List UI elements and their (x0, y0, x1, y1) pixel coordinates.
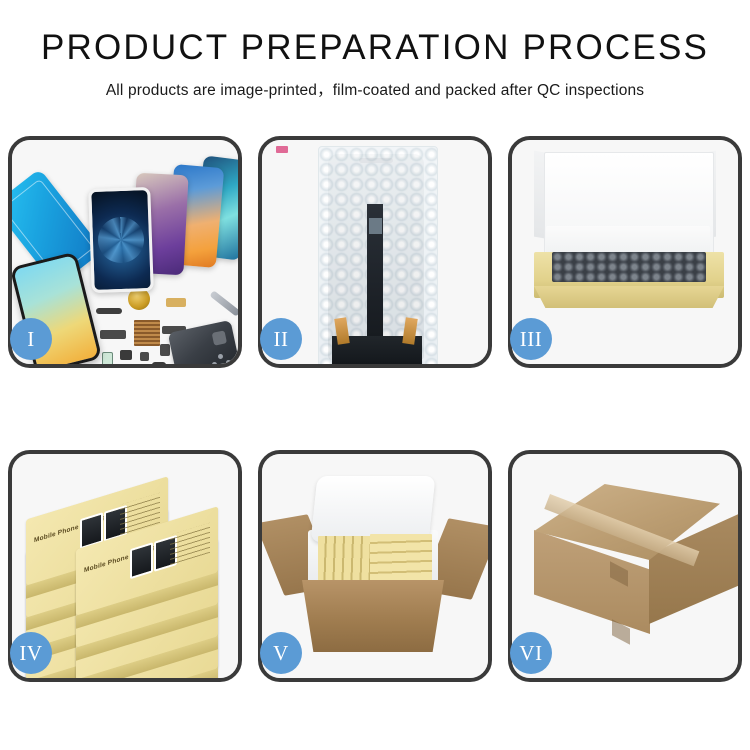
step-panel-iv: Mobile Phone Spare Parts Mobile Phone Sp… (8, 450, 242, 682)
button-part-icon (120, 350, 132, 360)
step-panel-v: V (258, 450, 492, 682)
yellow-boxes-row-2 (370, 534, 432, 584)
step-badge-iv: IV (10, 632, 52, 674)
step-badge-ii: II (260, 318, 302, 360)
lcd-driver-ic (369, 218, 382, 234)
process-steps-grid: I II (8, 136, 742, 682)
speaker-part-icon (96, 308, 122, 314)
box-stack-scene: Mobile Phone Spare Parts Mobile Phone Sp… (20, 474, 238, 670)
screwdriver-icon (209, 290, 238, 316)
lcd-label-sticker (276, 146, 288, 153)
page-title: PRODUCT PREPARATION PROCESS (0, 30, 750, 67)
chip-part-icon (140, 352, 149, 361)
camera-module-part-icon (160, 344, 170, 356)
step-badge-i: I (10, 318, 52, 360)
sim-tray-part-icon (102, 352, 113, 364)
yellow-box-tray-front (534, 286, 724, 308)
step-badge-v: V (260, 632, 302, 674)
step-badge-iii: III (510, 318, 552, 360)
charging-port-part-icon (152, 362, 166, 364)
step-badge-vi: VI (510, 632, 552, 674)
flex-cable-part-icon-c (100, 330, 126, 339)
page-subtitle: All products are image-printed，film-coat… (0, 78, 750, 100)
step-panel-i: I (8, 136, 242, 368)
product-preparation-infographic: PRODUCT PREPARATION PROCESS All products… (0, 0, 750, 750)
bubble-wrapped-contents (552, 252, 706, 282)
step-panel-iii: III (508, 136, 742, 368)
foam-insert-lid (311, 476, 436, 542)
screw-icon-2 (226, 360, 231, 364)
copper-mesh-part-icon (134, 320, 160, 346)
carton-front-panel (302, 580, 444, 652)
screw-icon-3 (212, 362, 217, 364)
phone-display-dark-blue (88, 187, 154, 293)
header: PRODUCT PREPARATION PROCESS All products… (0, 0, 750, 100)
step-panel-ii: II (258, 136, 492, 368)
flex-cable-part-icon-a (166, 298, 186, 307)
screw-icon-1 (218, 354, 223, 359)
step-panel-vi: VI (508, 450, 742, 682)
